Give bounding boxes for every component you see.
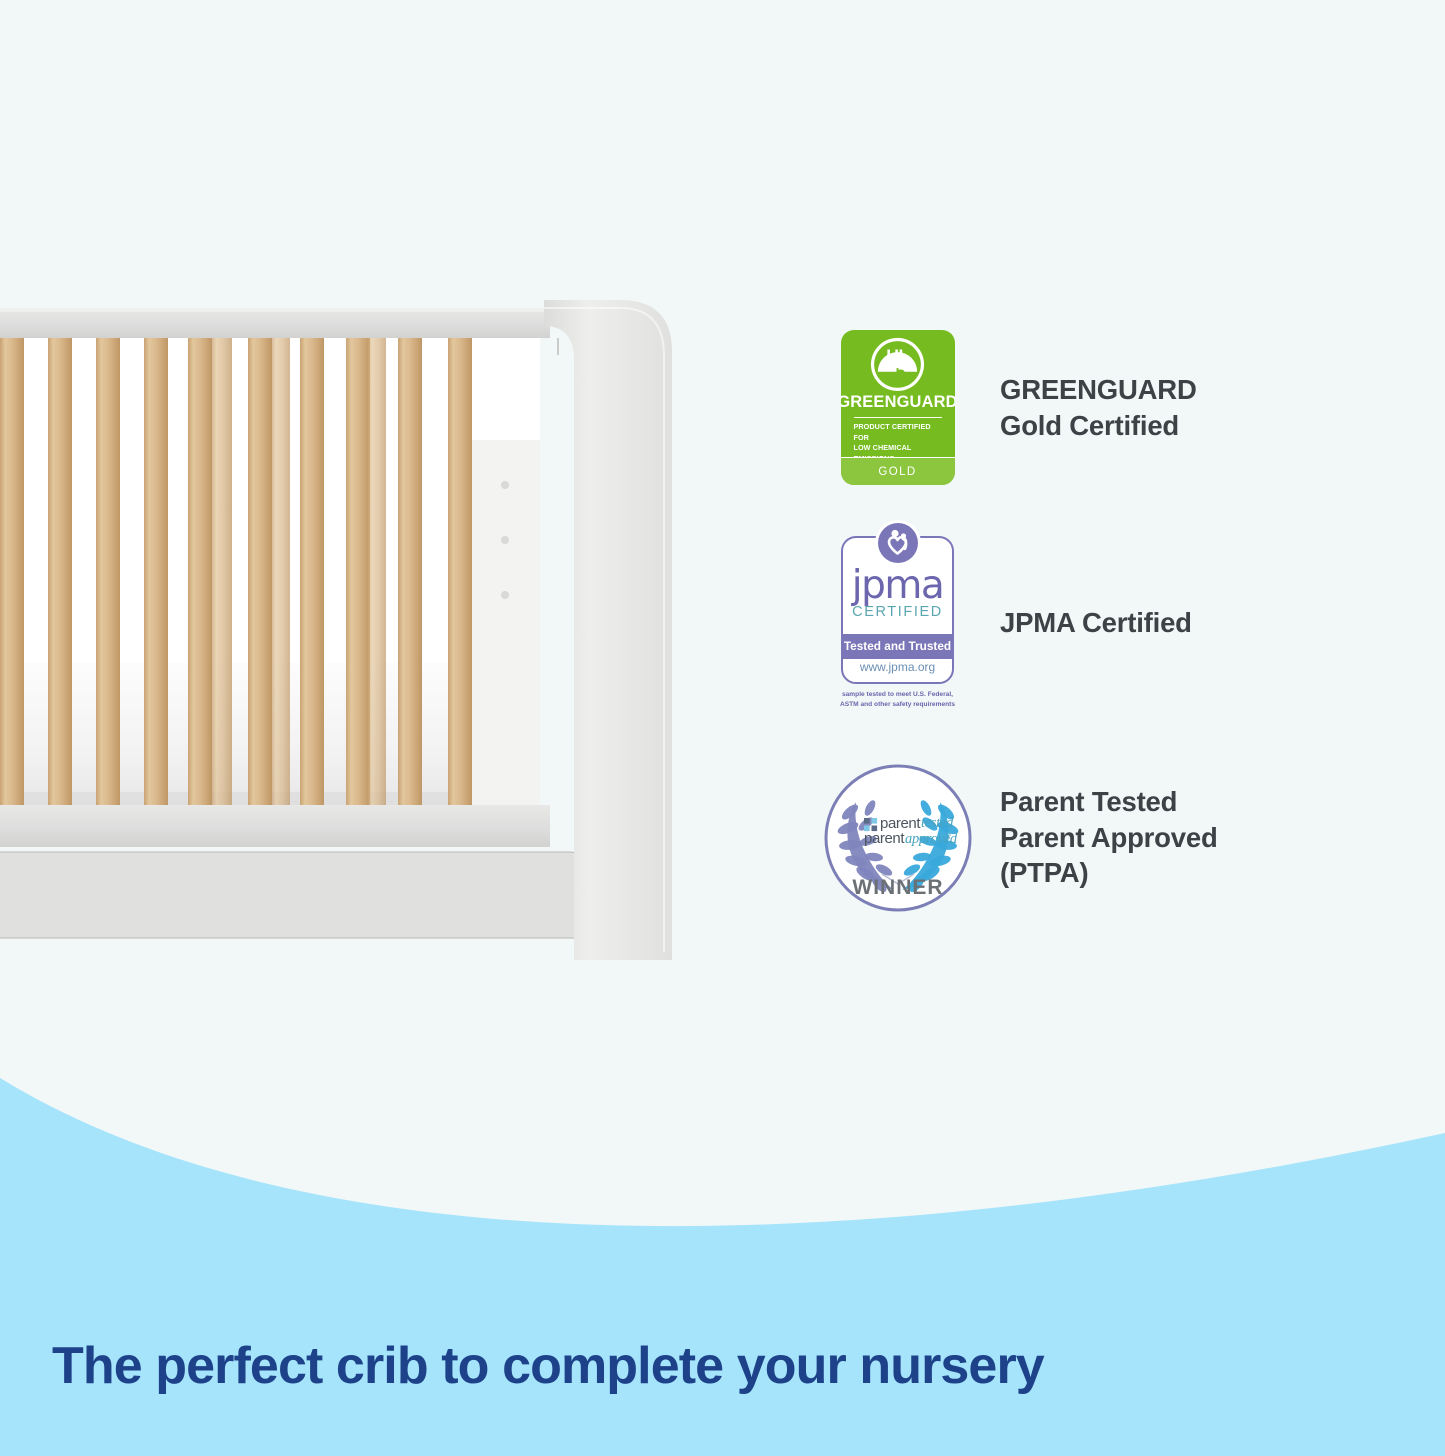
certification-label-jpma: JPMA Certified xyxy=(1000,605,1192,640)
greenguard-badge-cell: UL GREENGUARD PRODUCT CERTIFIED FOR LOW … xyxy=(795,330,1000,485)
crib-peg-hole xyxy=(501,536,509,544)
crib-peg-hole xyxy=(501,591,509,599)
svg-text:UL: UL xyxy=(886,346,909,366)
certification-list: UL GREENGUARD PRODUCT CERTIFIED FOR LOW … xyxy=(795,300,1395,945)
jpma-badge-cell: jpma CERTIFIED Tested and Trusted www.jp… xyxy=(795,536,1000,710)
jpma-wordmark: jpma xyxy=(852,568,943,603)
certification-row-greenguard: UL GREENGUARD PRODUCT CERTIFIED FOR LOW … xyxy=(795,300,1395,515)
ptpa-winner-seal: parent tested parent approved ™ WINNER xyxy=(824,764,972,912)
jpma-badge-frame: jpma CERTIFIED Tested and Trusted www.jp… xyxy=(841,536,954,684)
crib-lower-rail xyxy=(0,805,550,847)
crib-top-rail-highlight xyxy=(0,308,550,312)
parent-child-heart-icon xyxy=(874,519,922,567)
ptpa-line1-script: tested xyxy=(921,815,954,831)
ptpa-line2-regular: parent xyxy=(864,830,905,847)
jpma-fine-print: sample tested to meet U.S. Federal, ASTM… xyxy=(833,690,963,710)
wave-band xyxy=(0,1078,1445,1456)
page-headline: The perfect crib to complete your nurser… xyxy=(52,1336,1044,1396)
certification-row-ptpa: parent tested parent approved ™ WINNER P… xyxy=(795,730,1395,945)
greenguard-gold-badge: UL GREENGUARD PRODUCT CERTIFIED FOR LOW … xyxy=(841,330,955,485)
certification-label-ptpa: Parent Tested Parent Approved (PTPA) xyxy=(1000,784,1218,890)
jpma-subtitle: CERTIFIED xyxy=(852,604,943,620)
certification-label-greenguard: GREENGUARD Gold Certified xyxy=(1000,372,1197,443)
jpma-url: www.jpma.org xyxy=(843,660,952,674)
certification-row-jpma: jpma CERTIFIED Tested and Trusted www.jp… xyxy=(795,515,1395,730)
jpma-banner: Tested and Trusted xyxy=(843,634,952,659)
ptpa-trademark: ™ xyxy=(944,833,951,840)
crib-top-rail xyxy=(0,308,550,338)
jpma-certified-badge: jpma CERTIFIED Tested and Trusted www.jp… xyxy=(834,536,962,710)
crib-peg-hole xyxy=(501,481,509,489)
greenguard-divider xyxy=(854,417,942,418)
greenguard-wordmark: GREENGUARD xyxy=(841,393,955,412)
crib-base-panel xyxy=(0,852,582,938)
ul-leaf-icon: UL xyxy=(869,337,926,392)
product-image-crib xyxy=(0,300,680,980)
ptpa-award-text: WINNER xyxy=(852,876,943,899)
greenguard-tier-bar: GOLD xyxy=(841,457,955,485)
ptpa-badge-cell: parent tested parent approved ™ WINNER xyxy=(795,764,1000,912)
